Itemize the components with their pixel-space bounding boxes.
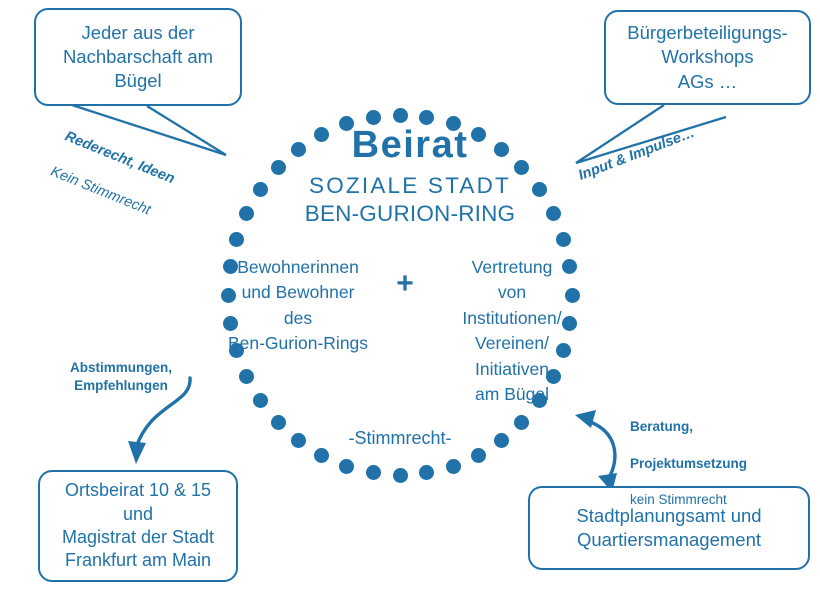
ring-dot: [339, 459, 354, 474]
label-beratung: Beratung, Projektumsetzung kein Stimmrec…: [630, 400, 790, 528]
ring-dot: [314, 448, 329, 463]
label-beratung-line3: kein Stimmrecht: [630, 491, 790, 509]
diagram-canvas: Beirat SOZIALE STADT BEN-GURION-RING Bew…: [0, 0, 820, 600]
ring-dot: [556, 232, 571, 247]
box-ortsbeirat: Ortsbeirat 10 & 15 und Magistrat der Sta…: [38, 470, 238, 582]
membership-columns: Bewohnerinnen und Bewohner des Ben-Gurio…: [205, 255, 605, 407]
voting-rights-note: -Stimmrecht-: [280, 428, 520, 449]
label-beratung-line2: Projektumsetzung: [630, 455, 790, 473]
subtitle-soziale-stadt: SOZIALE STADT: [215, 173, 605, 199]
label-beratung-line1: Beratung,: [630, 418, 790, 436]
ring-dot: [446, 459, 461, 474]
subtitle-ben-gurion-ring: BEN-GURION-RING: [215, 201, 605, 227]
center-title-block: Beirat SOZIALE STADT BEN-GURION-RING: [215, 126, 605, 227]
ring-dot: [366, 465, 381, 480]
ring-dot: [229, 232, 244, 247]
bubble-workshops: Bürgerbeteiligungs- Workshops AGs …: [604, 10, 811, 105]
members-institutions: Vertretung von Institutionen/ Vereinen/ …: [427, 255, 597, 407]
page-title: Beirat: [215, 126, 605, 164]
ring-dot: [393, 108, 408, 123]
ring-dot: [366, 110, 381, 125]
ring-dot: [419, 110, 434, 125]
bubble-neighbourhood: Jeder aus der Nachbarschaft am Bügel: [34, 8, 242, 106]
label-abstimmungen: Abstimmungen, Empfehlungen: [46, 359, 196, 395]
plus-icon: +: [383, 255, 427, 299]
bubble-neighbourhood-text: Jeder aus der Nachbarschaft am Bügel: [63, 21, 213, 93]
members-residents: Bewohnerinnen und Bewohner des Ben-Gurio…: [213, 255, 383, 357]
box-ortsbeirat-text: Ortsbeirat 10 & 15 und Magistrat der Sta…: [62, 479, 214, 573]
ring-dot: [471, 448, 486, 463]
ring-dot: [393, 468, 408, 483]
ring-dot: [419, 465, 434, 480]
bubble-workshops-text: Bürgerbeteiligungs- Workshops AGs …: [627, 21, 787, 93]
